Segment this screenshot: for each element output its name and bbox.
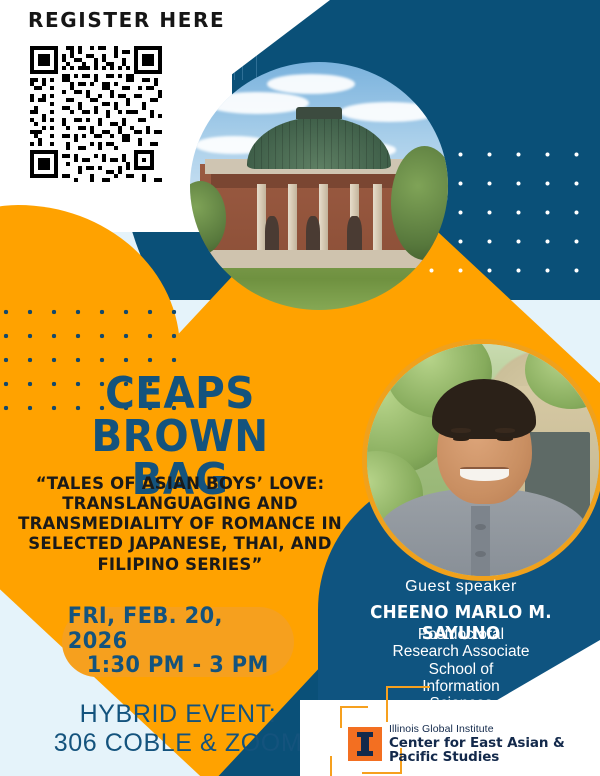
register-here-label: REGISTER HERE [28,8,225,32]
logo-line-1: Illinois Global Institute [389,724,600,735]
guest-speaker-label: Guest speaker [330,578,592,596]
affiliation-line-4: Information [336,678,586,695]
corner-bracket-top-right [386,686,430,722]
venue-block: HYBRID EVENT: 306 COBLE & ZOOM [18,700,338,758]
date-time-badge: FRI, FEB. 20, 2026 1:30 PM - 3 PM [62,607,294,677]
event-time: 1:30 PM - 3 PM [87,654,269,679]
title-line-1: CEAPS [36,372,323,415]
affiliation-line-2: Research Associate [336,643,586,660]
illinois-logo: Illinois Global Institute Center for Eas… [348,724,600,764]
event-date: FRI, FEB. 20, 2026 [68,605,288,654]
event-flyer: REGISTER HERE [0,0,600,776]
speaker-portrait [362,339,600,581]
illinois-i-mark-icon [348,727,382,761]
affiliation-line-1: Postdoctoral [336,626,586,643]
venue-line-1: HYBRID EVENT: [18,700,338,729]
building-photo [190,62,448,310]
logo-text: Illinois Global Institute Center for Eas… [389,724,600,764]
venue-line-2: 306 COBLE & ZOOM [18,729,338,758]
speaker-affiliation: Postdoctoral Research Associate School o… [336,626,586,713]
affiliation-line-5: Sciences [336,695,586,712]
logo-line-2: Center for East Asian & Pacific Studies [389,736,600,764]
qr-code[interactable] [26,42,174,190]
affiliation-line-3: School of [336,661,586,678]
talk-title: “TALES OF ASIAN BOYS’ LOVE: TRANSLANGUAG… [16,474,344,575]
